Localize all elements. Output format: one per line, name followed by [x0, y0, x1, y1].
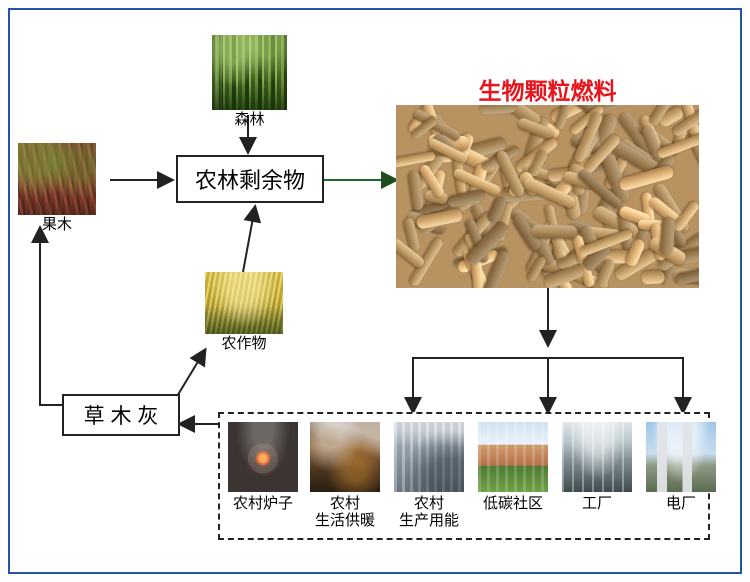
industrial-pipes-photo [394, 422, 464, 492]
low-carbon-community-photo [478, 422, 548, 492]
use-label-4: 工厂 [555, 496, 639, 513]
forest-label: 森林 [212, 112, 287, 129]
forest-photo [212, 35, 287, 110]
home-heating-photo [310, 422, 380, 492]
pellet-shape [641, 271, 664, 285]
plant-ash-box: 草 木 灰 [62, 394, 180, 436]
use-label-3: 低碳社区 [471, 496, 555, 513]
fruit-tree-label: 果木 [18, 217, 96, 234]
factory-photo [562, 422, 632, 492]
orchard-photo [18, 143, 96, 215]
rice-field-photo [205, 272, 283, 334]
agroforestry-residue-box: 农林剩余物 [176, 155, 324, 203]
pellet-shape [532, 225, 577, 239]
use-label-1: 农村 生活供暖 [303, 496, 387, 530]
use-label-0: 农村炉子 [221, 496, 305, 513]
plant-ash-label: 草 木 灰 [84, 400, 159, 430]
pellet-shape [660, 217, 676, 254]
agroforestry-residue-label: 农林剩余物 [195, 163, 305, 195]
diagram-page: 森林 果木 农林剩余物 农作物 草 木 灰 生物颗粒燃料 农村炉子 农村 生活供… [0, 0, 750, 582]
use-label-5: 电厂 [639, 496, 723, 513]
use-label-2: 农村 生产用能 [387, 496, 471, 530]
pellet-fuel-title: 生物颗粒燃料 [396, 72, 699, 106]
wood-pellets-photo [396, 105, 699, 288]
power-plant-photo [646, 422, 716, 492]
crops-label: 农作物 [205, 336, 283, 353]
village-stove-photo [228, 422, 298, 492]
